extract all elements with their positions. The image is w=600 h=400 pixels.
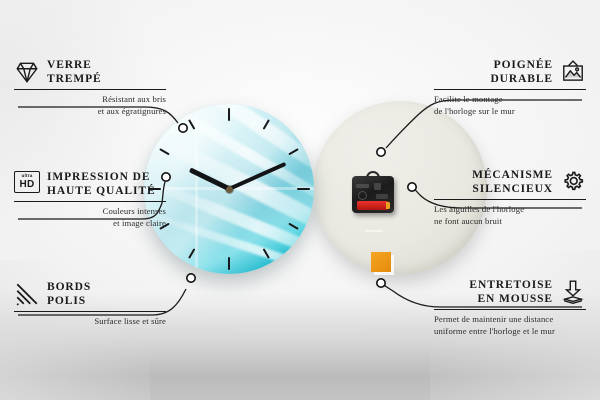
callout-dot-bords	[187, 274, 195, 282]
clock-front-view	[144, 104, 314, 274]
diamond-icon	[14, 59, 40, 85]
feature-divider	[434, 89, 586, 90]
foam-spacer	[371, 252, 391, 272]
feature-title: POIGNÉEDURABLE	[490, 58, 553, 86]
battery	[357, 201, 388, 210]
mechanism-detail	[376, 194, 388, 199]
battery-label	[365, 230, 383, 232]
gear-icon	[560, 169, 586, 195]
feature-mecanisme-silencieux: MÉCANISMESILENCIEUX Les aiguilles de l'h…	[434, 168, 586, 228]
feature-title: BORDSPOLIS	[47, 280, 91, 308]
clock-center-cap	[226, 186, 233, 193]
feature-divider	[14, 201, 166, 202]
feature-description: Les aiguilles de l'horloge ne font aucun…	[434, 204, 586, 228]
feature-description: Permet de maintenir une distance uniform…	[434, 314, 586, 338]
hd-badge: ultra HD	[14, 171, 40, 193]
feature-entretoise-en-mousse: ENTRETOISEEN MOUSSE Permet de maintenir …	[434, 278, 586, 338]
feature-verre-trempe: VERRETREMPÉ Résistant aux bris et aux ég…	[14, 58, 166, 118]
feature-description: Surface lisse et sûre	[14, 316, 166, 328]
feature-title: IMPRESSION DEHAUTE QUALITÉ	[47, 170, 156, 198]
feature-header: POIGNÉEDURABLE	[434, 58, 586, 86]
ultra-hd-badge-icon: ultra HD	[14, 171, 40, 197]
mechanism-detail	[358, 191, 367, 200]
arrow-down-pad-icon	[560, 279, 586, 305]
feature-impression-haute-qualite: ultra HD IMPRESSION DEHAUTE QUALITÉ Coul…	[14, 170, 166, 230]
mechanism-body	[352, 176, 394, 213]
battery-terminal	[386, 202, 390, 209]
feature-title: VERRETREMPÉ	[47, 58, 102, 86]
feature-header: ultra HD IMPRESSION DEHAUTE QUALITÉ	[14, 170, 166, 198]
mechanism-detail	[374, 183, 381, 190]
feature-header: VERRETREMPÉ	[14, 58, 166, 86]
feature-divider	[14, 89, 166, 90]
polished-edge-lines-icon	[14, 281, 40, 307]
hanging-frame-icon	[560, 59, 586, 85]
feature-poignee-durable: POIGNÉEDURABLE Facilite le montage de l'…	[434, 58, 586, 118]
feature-description: Couleurs intenses et image claire	[14, 206, 166, 230]
mechanism-detail	[356, 184, 369, 188]
feature-description: Résistant aux bris et aux égratignures	[14, 94, 166, 118]
feature-divider	[434, 309, 586, 310]
feature-bords-polis: BORDSPOLIS Surface lisse et sûre	[14, 280, 166, 328]
feature-divider	[14, 311, 166, 312]
callout-dot-entretoise	[377, 279, 385, 287]
feature-description: Facilite le montage de l'horloge sur le …	[434, 94, 586, 118]
feature-divider	[434, 199, 586, 200]
infographic-canvas: VERRETREMPÉ Résistant aux bris et aux ég…	[0, 0, 600, 400]
feature-header: MÉCANISMESILENCIEUX	[434, 168, 586, 196]
feature-header: ENTRETOISEEN MOUSSE	[434, 278, 586, 306]
feature-title: ENTRETOISEEN MOUSSE	[469, 278, 553, 306]
feature-title: MÉCANISMESILENCIEUX	[472, 168, 553, 196]
feature-header: BORDSPOLIS	[14, 280, 166, 308]
clock-mechanism	[352, 173, 394, 215]
